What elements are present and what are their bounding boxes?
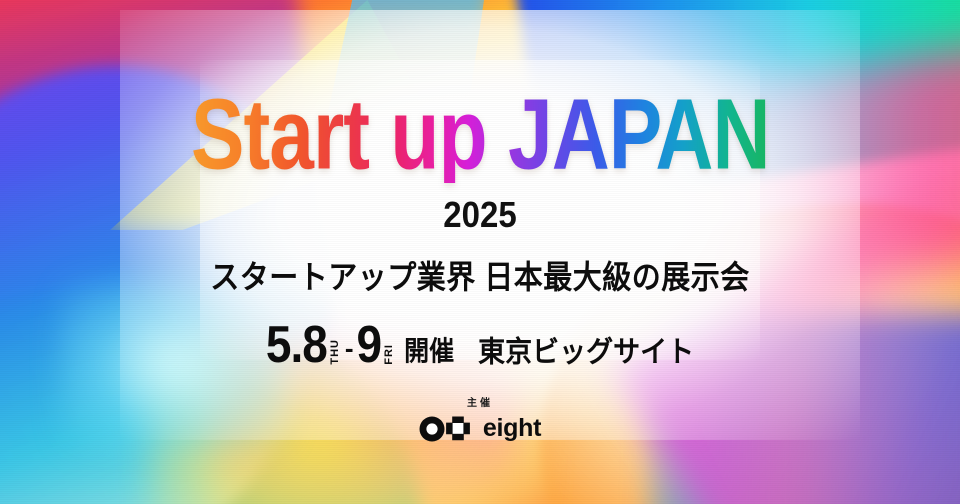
date-held-label: 開催 [404,339,454,366]
event-title: Start up JAPAN [191,88,770,183]
banner-content: Start up JAPAN 2025 スタートアップ業界 日本最大級の展示会 … [0,0,960,504]
eight-logo-icon [419,416,475,442]
organizer-logo: eight [419,416,541,442]
organizer-block: 主催 eight [419,394,541,442]
date-end-day: 9 [357,318,382,370]
date-start-weekday: THU [330,339,341,365]
date-separator: - [345,335,354,361]
event-venue: 東京ビッグサイト [478,338,694,367]
event-year: 2025 [443,194,516,236]
date-start-day: 5.8 [266,318,327,370]
event-subtitle: スタートアップ業界 日本最大級の展示会 [210,252,750,298]
event-banner: Start up JAPAN 2025 スタートアップ業界 日本最大級の展示会 … [0,0,960,504]
organizer-name: eight [483,416,541,441]
date-end-weekday: FRI [384,344,395,365]
organizer-label: 主催 [467,394,493,409]
event-dateline: 5.8 THU - 9 FRI 開催 東京ビッグサイト [266,324,694,370]
